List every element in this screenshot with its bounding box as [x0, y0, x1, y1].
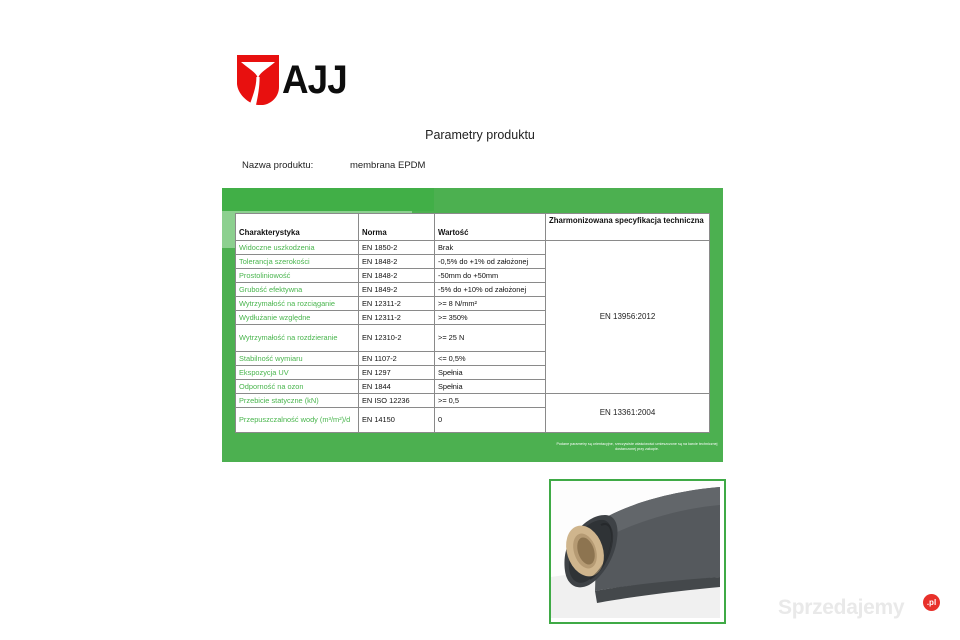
cell-characteristic: Widoczne uszkodzenia [236, 241, 359, 255]
cell-norm: EN 12310-2 [359, 325, 435, 352]
cell-characteristic: Stabilność wymiaru [236, 352, 359, 366]
product-name-row: Nazwa produktu: membrana EPDM [242, 160, 425, 171]
table-row: Widoczne uszkodzeniaEN 1850-2BrakEN 1395… [236, 241, 710, 255]
cell-value: <= 0,5% [435, 352, 546, 366]
cell-value: Spełnia [435, 380, 546, 394]
cell-value: >= 25 N [435, 325, 546, 352]
cell-norm: EN 14150 [359, 408, 435, 433]
cell-value: 0 [435, 408, 546, 433]
cell-value: -50mm do +50mm [435, 269, 546, 283]
cell-characteristic: Ekspozycja UV [236, 366, 359, 380]
cell-characteristic: Tolerancja szerokości [236, 255, 359, 269]
product-name-label: Nazwa produktu: [242, 160, 313, 171]
cell-norm: EN 12311-2 [359, 297, 435, 311]
product-parameters-table: Charakterystyka Norma Wartość Zharmonizo… [235, 213, 710, 433]
watermark-text: Sprzedajemy [778, 596, 904, 619]
header-characteristic: Charakterystyka [236, 214, 359, 241]
cell-harmonized-spec: EN 13956:2012 [546, 241, 710, 394]
cell-value: Spełnia [435, 366, 546, 380]
cell-value: -0,5% do +1% od założonej [435, 255, 546, 269]
cell-characteristic: Odporność na ozon [236, 380, 359, 394]
cell-harmonized-spec: EN 13361:2004 [546, 394, 710, 433]
cell-characteristic: Przepuszczalność wody (m³/m²)/d [236, 408, 359, 433]
cell-norm: EN 1850-2 [359, 241, 435, 255]
header-value: Wartość [435, 214, 546, 241]
logo-wordmark: AJJ [282, 60, 347, 100]
table-row: Przebicie statyczne (kN)EN ISO 12236>= 0… [236, 394, 710, 408]
cell-norm: EN 1107-2 [359, 352, 435, 366]
cell-norm: EN 1849-2 [359, 283, 435, 297]
cell-norm: EN 1848-2 [359, 255, 435, 269]
cell-norm: EN ISO 12236 [359, 394, 435, 408]
header-harmonized: Zharmonizowana specyfikacja techniczna [546, 214, 710, 241]
cell-characteristic: Grubość efektywna [236, 283, 359, 297]
panel-dark-band [222, 188, 434, 211]
page-title: Parametry produktu [0, 128, 960, 142]
watermark-pl-badge: .pl [923, 594, 940, 611]
cell-characteristic: Prostoliniowość [236, 269, 359, 283]
header-norm: Norma [359, 214, 435, 241]
cell-value: >= 0,5 [435, 394, 546, 408]
cell-norm: EN 1297 [359, 366, 435, 380]
cell-value: -5% do +10% od założonej [435, 283, 546, 297]
site-watermark: Sprzedajemy .pl [778, 594, 948, 624]
company-logo: AJJ [236, 52, 361, 107]
cell-value: Brak [435, 241, 546, 255]
cell-norm: EN 1848-2 [359, 269, 435, 283]
product-name-value: membrana EPDM [350, 160, 426, 171]
cell-characteristic: Wytrzymałość na rozdzieranie [236, 325, 359, 352]
epdm-membrane-roll-photo [549, 479, 726, 624]
cell-value: >= 8 N/mm² [435, 297, 546, 311]
table-header-row: Charakterystyka Norma Wartość Zharmonizo… [236, 214, 710, 241]
cell-norm: EN 12311-2 [359, 311, 435, 325]
ajj-shield-mark [236, 54, 280, 106]
membrane-roll-illustration [551, 481, 720, 618]
cell-characteristic: Przebicie statyczne (kN) [236, 394, 359, 408]
cell-norm: EN 1844 [359, 380, 435, 394]
cell-value: >= 350% [435, 311, 546, 325]
panel-footnote: Podane parametry są orientacyjne, rzeczy… [552, 442, 722, 453]
cell-characteristic: Wytrzymałość na rozciąganie [236, 297, 359, 311]
cell-characteristic: Wydłużanie względne [236, 311, 359, 325]
